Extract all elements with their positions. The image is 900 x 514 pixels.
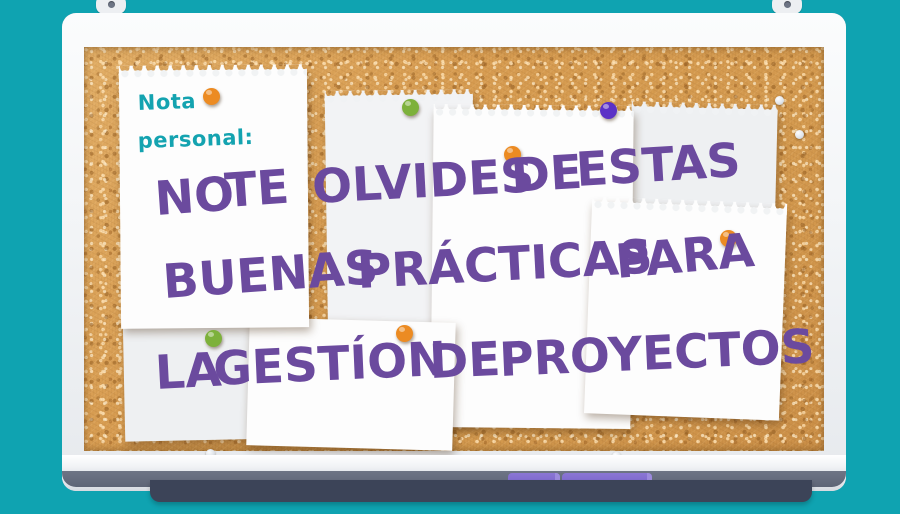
note-sheet-bottom-center[interactable] bbox=[246, 317, 455, 451]
poster-scene: Nota personal: NO TE OLVIDES DE ESTAS BU… bbox=[0, 0, 900, 514]
screw-icon bbox=[108, 1, 115, 8]
pin-green-1[interactable] bbox=[402, 99, 419, 116]
pin-orange-4[interactable] bbox=[396, 325, 413, 342]
pin-purple-1[interactable] bbox=[600, 102, 617, 119]
wall-mount-left-icon bbox=[96, 0, 126, 14]
screw-icon bbox=[784, 1, 791, 8]
pin-orange-3[interactable] bbox=[720, 230, 737, 247]
note-sheet-right-front[interactable] bbox=[584, 201, 787, 420]
note-sheet-main[interactable] bbox=[119, 69, 309, 329]
pin-green-2[interactable] bbox=[205, 330, 222, 347]
perforation-dots bbox=[325, 93, 473, 104]
pin-orange-1[interactable] bbox=[203, 88, 220, 105]
perforation-dots bbox=[119, 68, 307, 79]
wall-mount-right-icon bbox=[772, 0, 802, 14]
pin-hole bbox=[795, 130, 804, 139]
tray-ledge bbox=[150, 480, 812, 502]
pin-hole bbox=[775, 96, 784, 105]
pin-orange-2[interactable] bbox=[504, 146, 521, 163]
